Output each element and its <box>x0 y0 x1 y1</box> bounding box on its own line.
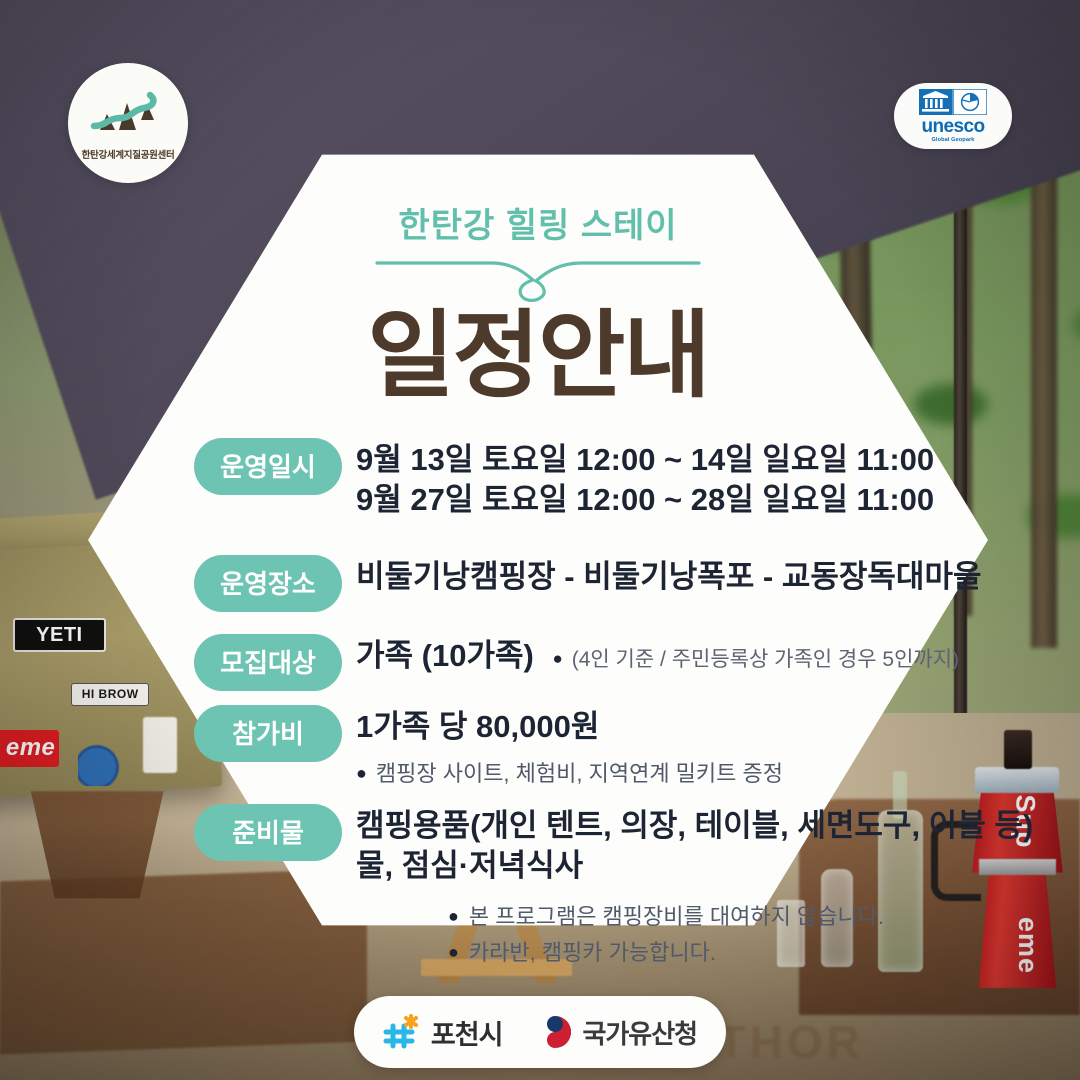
geopark-caption: 한탄강세계지질공원센터 <box>82 147 175 161</box>
row-body-target: 가족 (10가족) ●(4인 기준 / 주민등록상 가족인 경우 5인까지) <box>356 634 959 676</box>
info-row-target: 모집대상 가족 (10가족) ●(4인 기준 / 주민등록상 가족인 경우 5인… <box>194 634 968 691</box>
info-row-schedule: 운영일시 9월 13일 토요일 12:00 ~ 14일 일요일 11:00 9월… <box>194 438 968 519</box>
bullet-icon: ● <box>356 763 367 783</box>
footnote-1: 본 프로그램은 캠핑장비를 대여하지 않습니다. <box>469 904 884 929</box>
info-rows: 운영일시 9월 13일 토요일 12:00 ~ 14일 일요일 11:00 9월… <box>88 438 988 971</box>
unesco-subtitle: Global Geopark <box>931 137 974 143</box>
unesco-logo: unesco Global Geopark <box>894 83 1012 149</box>
footnotes: ●본 프로그램은 캠핑장비를 대여하지 않습니다. ●카라반, 캠핑카 가능합니… <box>194 899 968 970</box>
decorative-divider <box>373 253 703 303</box>
footnote-2: 카라반, 캠핑카 가능합니다. <box>469 940 716 965</box>
location-value: 비둘기낭캠핑장 - 비둘기낭폭포 - 교동장독대마을 <box>356 557 982 597</box>
pocheon-logo: 포천시 <box>383 1012 503 1052</box>
schedule-line-2: 9월 27일 토요일 12:00 ~ 28일 일요일 11:00 <box>356 480 934 520</box>
panel-content: 한탄강 힐링 스테이 일정안내 운영일시 9월 13일 토요일 12:00 ~ … <box>88 150 988 930</box>
eyebrow-title: 한탄강 힐링 스테이 <box>88 198 988 247</box>
geopark-mark-icon <box>86 86 170 144</box>
target-note-wrap: ●(4인 기준 / 주민등록상 가족인 경우 5인까지) <box>542 648 959 671</box>
fee-value: 1가족 당 80,000원 <box>356 707 783 747</box>
pocheon-hash-star-icon <box>383 1012 423 1052</box>
unesco-wordmark: unesco <box>922 117 985 136</box>
row-body-schedule: 9월 13일 토요일 12:00 ~ 14일 일요일 11:00 9월 27일 … <box>356 438 934 519</box>
badge-fee: 참가비 <box>194 705 342 762</box>
sponsor-logo-bar: 포천시 국가유산청 <box>354 996 726 1068</box>
info-row-location: 운영장소 비둘기낭캠핑장 - 비둘기낭폭포 - 교동장독대마을 <box>194 555 968 612</box>
bullet-icon: ● <box>448 942 459 962</box>
row-body-items: 캠핑용품(개인 텐트, 의장, 테이블, 세면도구, 이불 등) 물, 점심·저… <box>356 804 1033 885</box>
target-value: 가족 (10가족) <box>356 638 534 673</box>
bullet-icon: ● <box>448 906 459 926</box>
fee-note: 캠핑장 사이트, 체험비, 지역연계 밀키트 증정 <box>376 761 783 786</box>
taegeuk-icon <box>536 1013 574 1051</box>
row-body-fee: 1가족 당 80,000원 ●캠핑장 사이트, 체험비, 지역연계 밀키트 증정 <box>356 705 783 790</box>
row-body-location: 비둘기낭캠핑장 - 비둘기낭폭포 - 교동장독대마을 <box>356 555 982 597</box>
footnote-1-wrap: ●본 프로그램은 캠핑장비를 대여하지 않습니다. <box>448 899 968 935</box>
schedule-line-1: 9월 13일 토요일 12:00 ~ 14일 일요일 11:00 <box>356 440 934 480</box>
unesco-temple-globe-icon <box>919 89 987 115</box>
target-note: (4인 기준 / 주민등록상 가족인 경우 5인까지) <box>572 648 959 671</box>
badge-schedule: 운영일시 <box>194 438 342 495</box>
pocheon-name: 포천시 <box>431 1013 503 1052</box>
fee-note-wrap: ●캠핑장 사이트, 체험비, 지역연계 밀키트 증정 <box>356 757 783 790</box>
page-title: 일정안내 <box>88 309 988 404</box>
bullet-icon: ● <box>552 649 562 668</box>
items-line-2: 물, 점심·저녁식사 <box>356 846 1033 886</box>
heritage-name: 국가유산청 <box>582 1014 697 1051</box>
info-row-items: 준비물 캠핑용품(개인 텐트, 의장, 테이블, 세면도구, 이불 등) 물, … <box>194 804 968 885</box>
info-row-fee: 참가비 1가족 당 80,000원 ●캠핑장 사이트, 체험비, 지역연계 밀키… <box>194 705 968 790</box>
target-value-wrap: 가족 (10가족) ●(4인 기준 / 주민등록상 가족인 경우 5인까지) <box>356 636 959 676</box>
items-line-1: 캠핑용품(개인 텐트, 의장, 테이블, 세면도구, 이불 등) <box>356 806 1033 846</box>
badge-items: 준비물 <box>194 804 342 861</box>
heritage-logo: 국가유산청 <box>536 1013 697 1051</box>
footnote-2-wrap: ●카라반, 캠핑카 가능합니다. <box>448 935 968 971</box>
geopark-logo: 한탄강세계지질공원센터 <box>68 63 188 183</box>
badge-location: 운영장소 <box>194 555 342 612</box>
badge-target: 모집대상 <box>194 634 342 691</box>
unesco-emblem-icon <box>919 89 987 115</box>
